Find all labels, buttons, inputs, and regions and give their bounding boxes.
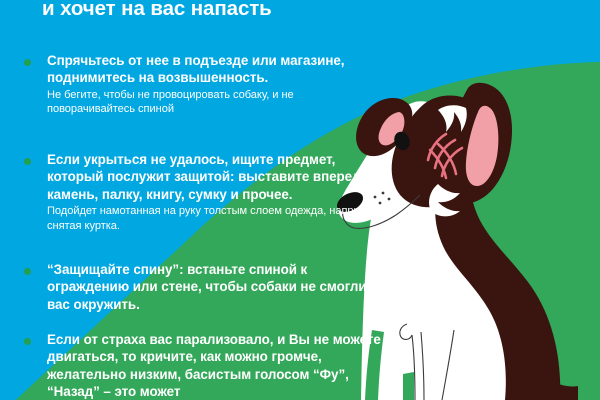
list-item-lead: “Защищайте спину”: встаньте спиной к огр… — [47, 261, 383, 313]
list-item-sub: Подойдет намотанная на руку толстым слое… — [47, 204, 383, 233]
list-item: “Защищайте спину”: встаньте спиной к огр… — [24, 261, 354, 313]
bullet-dot-icon — [24, 59, 31, 66]
bullet-dot-icon — [24, 338, 31, 345]
bullet-dot-icon — [24, 268, 31, 275]
list-item-lead: Если от страха вас парализовало, и Вы не… — [47, 331, 383, 400]
list-item-lead: Спрячьтесь от нее в подъезде или магазин… — [47, 52, 354, 87]
poster-canvas: и хочет на вас напасть Спрячьтесь от нее… — [0, 0, 600, 400]
list-item-sub: Не бегите, чтобы не провоцировать собаку… — [47, 88, 354, 117]
bullet-dot-icon — [24, 158, 31, 165]
list-item: Спрячьтесь от нее в подъезде или магазин… — [24, 52, 354, 117]
list-item: Если от страха вас парализовало, и Вы не… — [24, 331, 354, 400]
page-title: и хочет на вас напасть — [42, 0, 342, 22]
list-item-lead: Если укрыться не удалось, ищите предмет,… — [47, 151, 383, 203]
list-item: Если укрыться не удалось, ищите предмет,… — [24, 151, 354, 233]
